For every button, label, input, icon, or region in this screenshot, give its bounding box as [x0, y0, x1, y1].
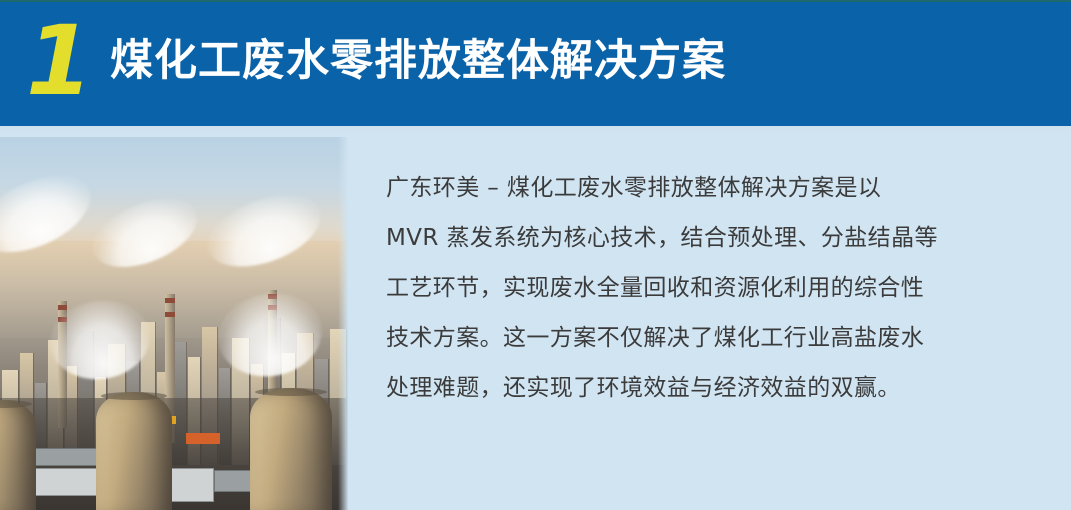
- photo-right-fade: [338, 137, 348, 510]
- description-text-block: 广东环美 – 煤化工废水零排放整体解决方案是以 MVR 蒸发系统为核心技术，结合…: [386, 163, 1011, 413]
- cooling-tower-right: [250, 388, 332, 510]
- description-line: 技术方案。这一方案不仅解决了煤化工行业高盐废水: [386, 313, 1011, 363]
- plant-building-2: [30, 448, 98, 466]
- orange-roof-structure: [186, 433, 220, 444]
- description-line: 工艺环节，实现废水全量回收和资源化利用的综合性: [386, 263, 1011, 313]
- photo-scene: [0, 137, 348, 510]
- description-line: 处理难题，还实现了环境效益与经济效益的双赢。: [386, 363, 1011, 413]
- industrial-plant-photo: [0, 137, 348, 510]
- plant-building-1: [24, 468, 104, 496]
- cooling-tower-center: [96, 392, 172, 510]
- slide-page: 1 煤化工废水零排放整体解决方案: [0, 0, 1071, 510]
- section-header-bar: 1 煤化工废水零排放整体解决方案: [0, 0, 1071, 126]
- page-title: 煤化工废水零排放整体解决方案: [110, 30, 726, 92]
- description-line: 广东环美 – 煤化工废水零排放整体解决方案是以: [386, 163, 1011, 213]
- section-number: 1: [26, 6, 91, 116]
- description-line: MVR 蒸发系统为核心技术，结合预处理、分盐结晶等: [386, 213, 1011, 263]
- cooling-tower-left-edge: [0, 400, 36, 510]
